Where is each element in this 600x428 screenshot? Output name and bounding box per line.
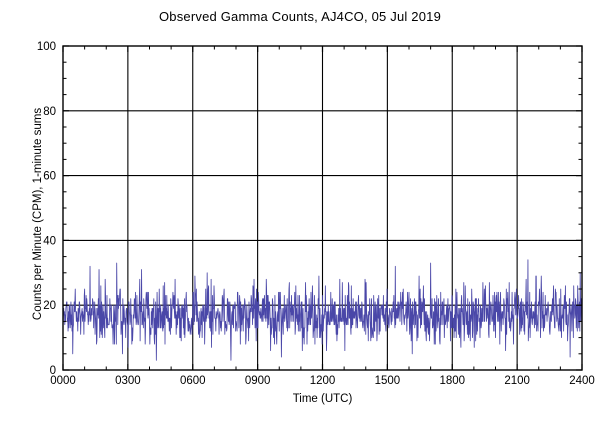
y-tick-label: 0 xyxy=(50,365,56,377)
tick-labels: 0000030006000900120015001800210024000204… xyxy=(37,41,595,387)
y-tick-label: 60 xyxy=(43,171,56,183)
y-tick-label: 100 xyxy=(37,41,56,53)
x-tick-label: 2400 xyxy=(569,375,595,387)
x-tick-label: 1500 xyxy=(375,375,401,387)
y-tick-label: 80 xyxy=(43,106,56,118)
x-tick-label: 1200 xyxy=(310,375,336,387)
chart-figure: Observed Gamma Counts, AJ4CO, 05 Jul 201… xyxy=(0,0,600,428)
plot-area: 0000030006000900120015001800210024000204… xyxy=(0,0,600,428)
x-tick-label: 0300 xyxy=(115,375,141,387)
x-tick-label: 0900 xyxy=(245,375,271,387)
y-tick-label: 40 xyxy=(43,235,56,247)
y-tick-label: 20 xyxy=(43,300,56,312)
x-tick-label: 0600 xyxy=(180,375,206,387)
x-tick-label: 2100 xyxy=(504,375,530,387)
x-tick-label: 1800 xyxy=(439,375,465,387)
